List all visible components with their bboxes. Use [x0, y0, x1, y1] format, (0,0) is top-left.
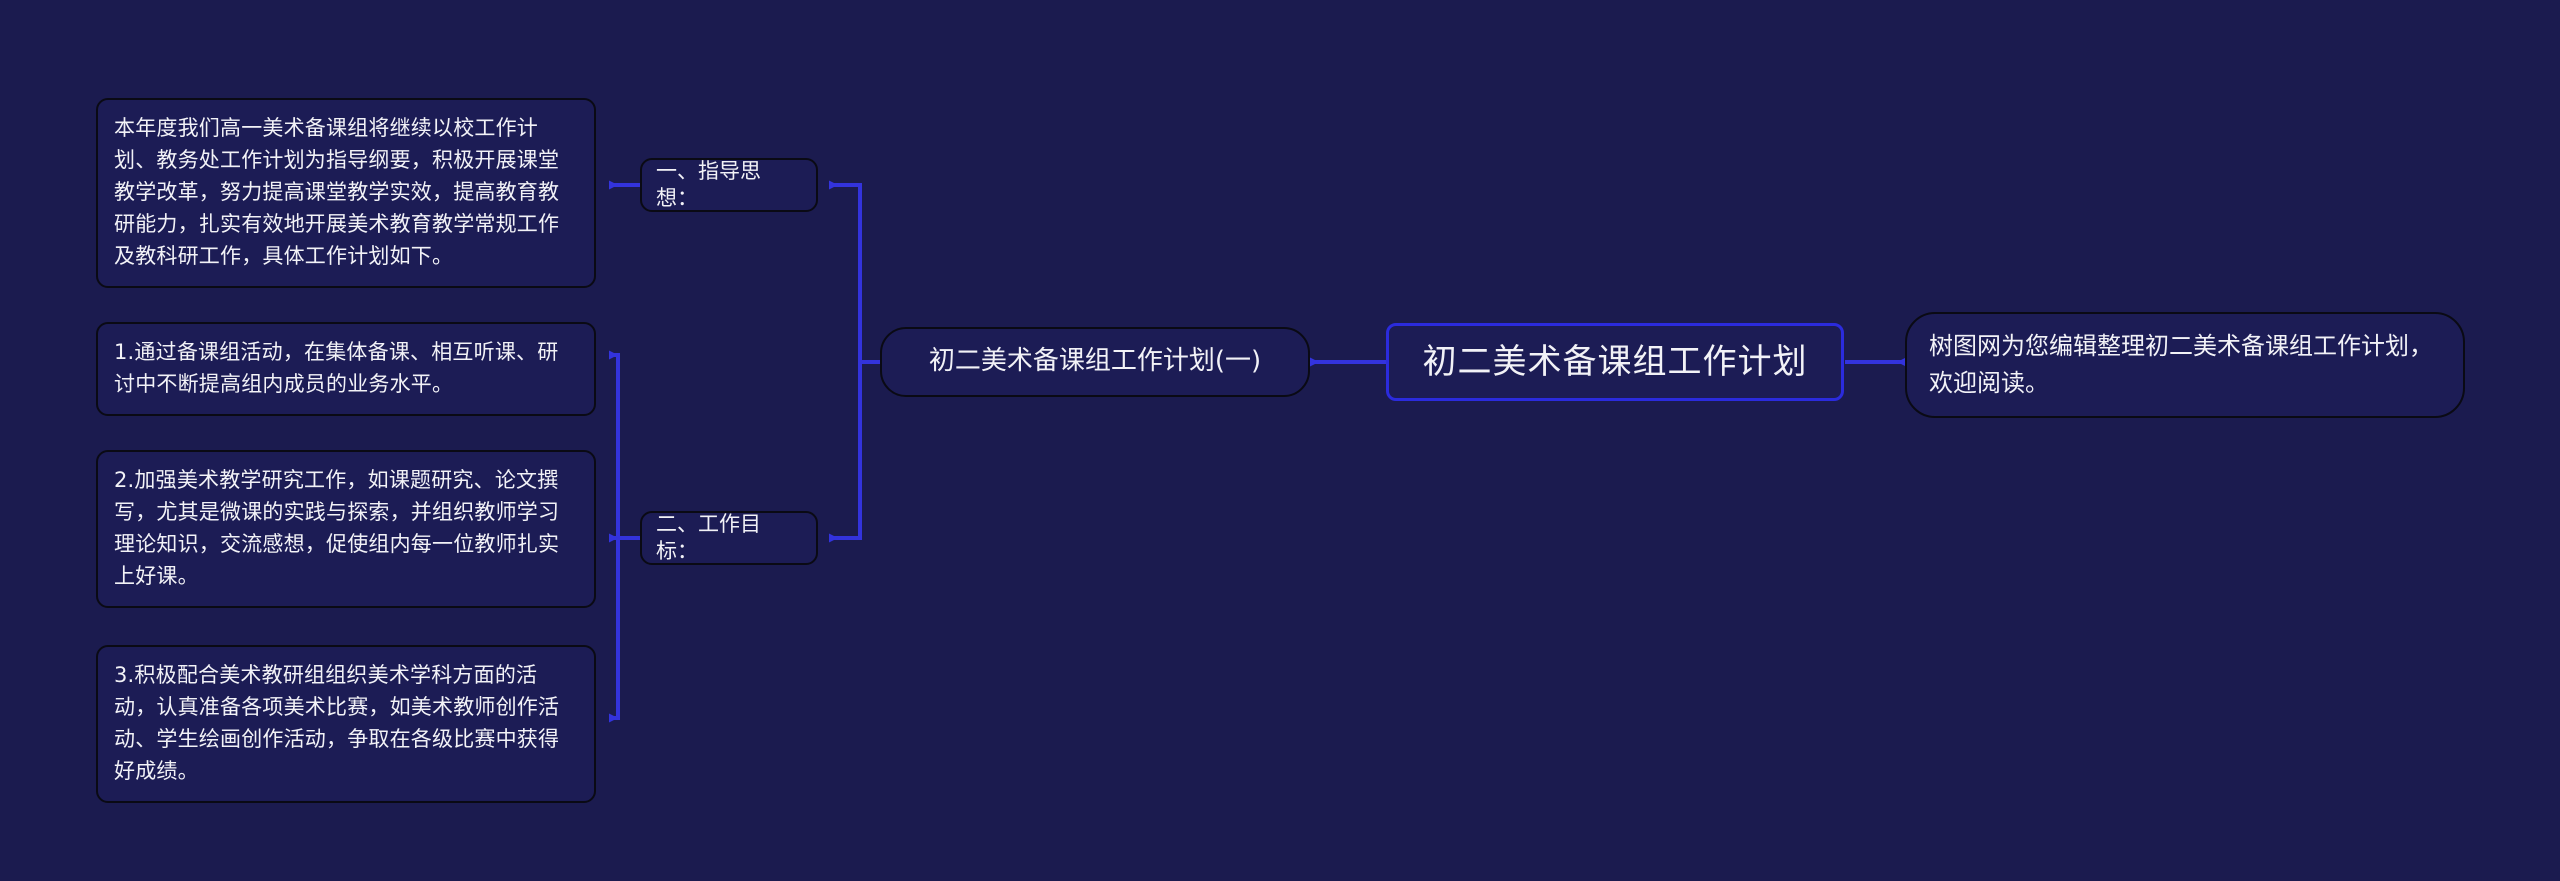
leaf-guiding-ideology-1[interactable]: 本年度我们高一美术备课组将继续以校工作计划、教务处工作计划为指导纲要，积极开展课…	[96, 98, 596, 288]
subtitle-node-plan-one[interactable]: 初二美术备课组工作计划(一)	[880, 327, 1310, 397]
leaf-text: 本年度我们高一美术备课组将继续以校工作计划、教务处工作计划为指导纲要，积极开展课…	[114, 113, 578, 273]
connector-section2-to-leaves	[610, 355, 640, 718]
leaf-work-goal-1[interactable]: 1.通过备课组活动，在集体备课、相互听课、研讨中不断提高组内成员的业务水平。	[96, 322, 596, 416]
root-node[interactable]: 初二美术备课组工作计划	[1386, 323, 1844, 401]
leaf-text: 3.积极配合美术教研组组织美术学科方面的活动，认真准备各项美术比赛，如美术教师创…	[114, 660, 578, 788]
section-label-work-goal[interactable]: 二、工作目标：	[640, 511, 818, 565]
subtitle-text: 初二美术备课组工作计划(一)	[902, 345, 1288, 379]
section-label-text: 一、指导思想：	[656, 158, 802, 213]
leaf-work-goal-3[interactable]: 3.积极配合美术教研组组织美术学科方面的活动，认真准备各项美术比赛，如美术教师创…	[96, 645, 596, 803]
connector-subtitle-spine	[830, 185, 880, 538]
mindmap-canvas: 本年度我们高一美术备课组将继续以校工作计划、教务处工作计划为指导纲要，积极开展课…	[0, 0, 2560, 881]
description-node[interactable]: 树图网为您编辑整理初二美术备课组工作计划，欢迎阅读。	[1905, 312, 2465, 418]
description-text: 树图网为您编辑整理初二美术备课组工作计划，欢迎阅读。	[1929, 328, 2441, 402]
root-node-text: 初二美术备课组工作计划	[1411, 340, 1819, 384]
section-label-text: 二、工作目标：	[656, 511, 802, 566]
leaf-text: 2.加强美术教学研究工作，如课题研究、论文撰写，尤其是微课的实践与探索，并组织教…	[114, 465, 578, 593]
section-label-guiding-ideology[interactable]: 一、指导思想：	[640, 158, 818, 212]
leaf-work-goal-2[interactable]: 2.加强美术教学研究工作，如课题研究、论文撰写，尤其是微课的实践与探索，并组织教…	[96, 450, 596, 608]
leaf-text: 1.通过备课组活动，在集体备课、相互听课、研讨中不断提高组内成员的业务水平。	[114, 337, 578, 401]
